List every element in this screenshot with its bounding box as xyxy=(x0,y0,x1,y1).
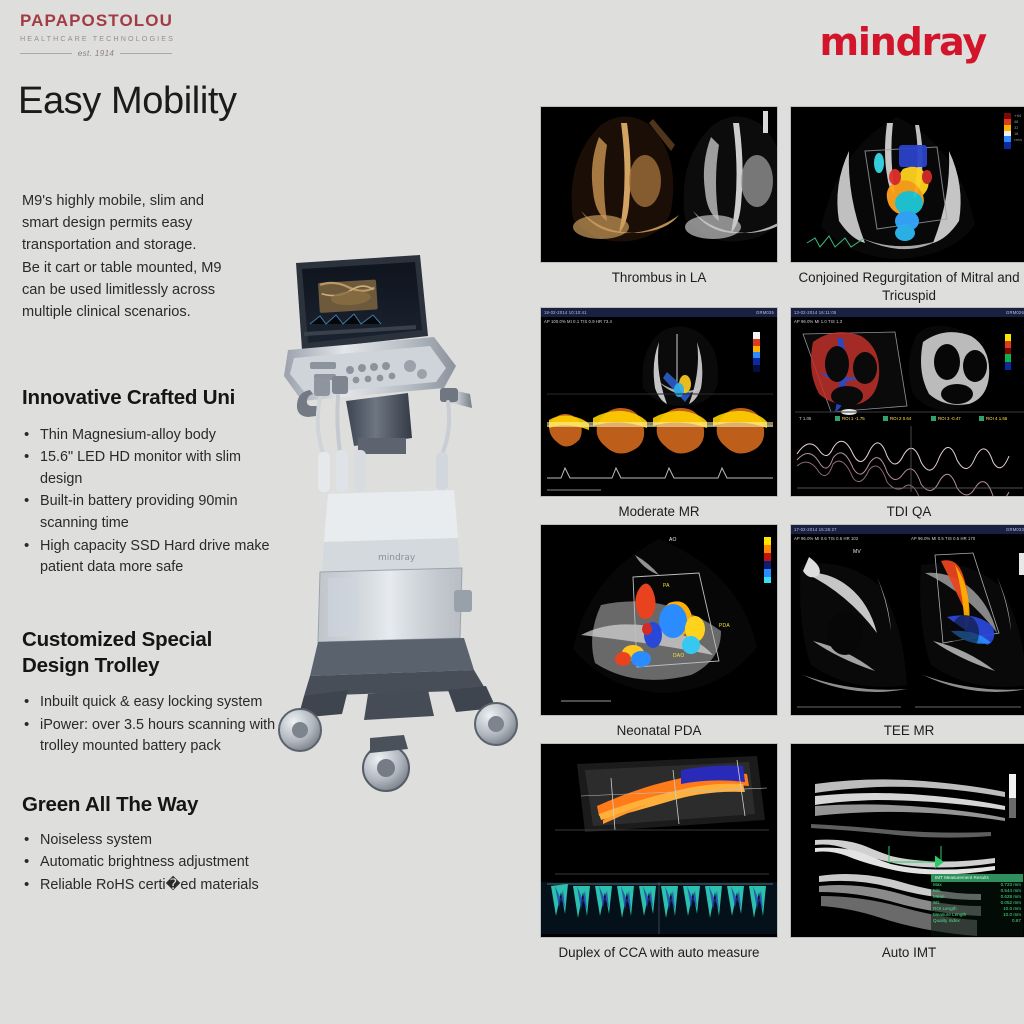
intro-line: can be used limitlessly across xyxy=(22,279,280,301)
list-item: 15.6" LED HD monitor with slim design xyxy=(22,447,280,490)
slide-page: PAPAPOSTOLOU HEALTHCARE TECHNOLOGIES est… xyxy=(0,0,1024,1024)
brand-established: est. 1914 xyxy=(78,49,115,58)
ultrasound-image-auto-imt[interactable]: 06-14-2014 08:22:34 Admin 20140614-08241… xyxy=(790,743,1024,938)
left-content-column: M9's highly mobile, slim and smart desig… xyxy=(22,190,280,897)
ultrasound-image-tdi-qa[interactable]: 13-02-2014 16:11:05 GRM026 AP 96.0% MI 1… xyxy=(790,307,1024,497)
duplex-pw-render xyxy=(541,744,778,938)
intro-line: Be it cart or table mounted, M9 xyxy=(22,257,280,279)
section-heading-trolley: Customized Special Design Trolley xyxy=(22,627,280,678)
table-row: Quality Index0.67 xyxy=(933,918,1021,924)
section-heading-innovative: Innovative Crafted Uni xyxy=(22,385,280,411)
ultrasound-image-neonatal-pda[interactable]: AP 100.0% MI 0.7 TIS 1.2 xyxy=(540,524,778,716)
caption-tee-mr: TEE MR xyxy=(790,716,1024,741)
gallery-cell-auto-imt[interactable]: 06-14-2014 08:22:34 Admin 20140614-08241… xyxy=(790,743,1024,963)
brand-name: PAPAPOSTOLOU xyxy=(20,12,172,30)
table-title: IMT Measurement Results xyxy=(933,875,1021,881)
color-doppler-render: +6448 3216 cm/s xyxy=(791,107,1024,263)
gallery-cell-conjoined[interactable]: +6448 3216 cm/s Conjoined Regurgitation … xyxy=(790,106,1024,305)
tdi-render xyxy=(791,308,1024,497)
brand-established-row: est. 1914 xyxy=(20,49,172,58)
caption-tdi-qa: TDI QA xyxy=(790,497,1024,522)
cart-chassis: mindray xyxy=(322,490,460,572)
page-title: Easy Mobility xyxy=(18,80,237,123)
gallery-row-1: Thrombus in LA xyxy=(540,106,1024,305)
tee-dual-render xyxy=(791,525,1024,716)
ultrasound-image-thrombus-in-la[interactable] xyxy=(540,106,778,263)
ultrasound-image-tee-mr[interactable]: 17-02-2014 15:26:27 GRM033 AP 96.0% MI 0… xyxy=(790,524,1024,716)
divider-left xyxy=(20,53,72,54)
list-item: Reliable RoHS certi�ed materials xyxy=(22,875,280,897)
gallery-row-4: AP 96.6% MI 0.4 TIS 0.2 xyxy=(540,743,1024,963)
anatomy-label-pda: PDA xyxy=(719,623,730,629)
section-heading-green: Green All The Way xyxy=(22,792,280,818)
gallery-row-2: 18-02-2014 10:10:41 GRM035 AP 100.0% MI … xyxy=(540,307,1024,522)
gallery-row-3: AP 100.0% MI 0.7 TIS 1.2 xyxy=(540,524,1024,741)
papapostolou-logo: PAPAPOSTOLOU HEALTHCARE TECHNOLOGIES est… xyxy=(20,12,172,58)
caption-neonatal-pda: Neonatal PDA xyxy=(540,716,778,741)
anatomy-label-dao: DAO xyxy=(673,653,684,659)
gallery-cell-tdi-qa[interactable]: 13-02-2014 16:11:05 GRM026 AP 96.0% MI 1… xyxy=(790,307,1024,522)
feature-list-green: Noiseless system Automatic brightness ad… xyxy=(22,830,280,897)
ultrasound-image-moderate-mr[interactable]: 18-02-2014 10:10:41 GRM035 AP 100.0% MI … xyxy=(540,307,778,497)
cart-base xyxy=(298,638,496,720)
imt-measurement-table: IMT Measurement Results Max0.723 mm Min0… xyxy=(933,875,1021,925)
anatomy-label-ao: AO xyxy=(669,537,677,543)
echo-dual-render xyxy=(541,107,778,263)
tdi-time-label: T 1.05 xyxy=(799,416,811,421)
caption-thrombus: Thrombus in LA xyxy=(540,263,778,288)
svg-text:mindray: mindray xyxy=(378,553,416,563)
list-item: Thin Magnesium-alloy body xyxy=(22,425,280,447)
spectral-doppler-render xyxy=(541,308,778,497)
intro-line: smart design permits easy xyxy=(22,212,280,234)
ultrasound-image-duplex-cca[interactable]: AP 96.6% MI 0.4 TIS 0.2 xyxy=(540,743,778,938)
list-item: Built-in battery providing 90min scannin… xyxy=(22,491,280,534)
svg-text:cm/s: cm/s xyxy=(1014,138,1022,142)
monitor xyxy=(296,255,428,350)
intro-paragraph: M9's highly mobile, slim and smart desig… xyxy=(22,190,280,323)
anatomy-label-pa: PA xyxy=(663,583,670,589)
list-item: iPower: over 3.5 hours scanning with tro… xyxy=(22,715,280,758)
ultrasound-image-gallery: Thrombus in LA xyxy=(540,106,1024,968)
gallery-cell-thrombus[interactable]: Thrombus in LA xyxy=(540,106,778,305)
svg-text:16: 16 xyxy=(1014,132,1018,136)
color-bar-icon xyxy=(764,537,771,583)
brand-subtitle: HEALTHCARE TECHNOLOGIES xyxy=(20,34,172,43)
product-image-m9-trolley: mindray xyxy=(258,238,558,818)
caption-auto-imt: Auto IMT xyxy=(790,938,1024,963)
gallery-cell-neonatal-pda[interactable]: AP 100.0% MI 0.7 TIS 1.2 xyxy=(540,524,778,741)
list-item: Noiseless system xyxy=(22,830,280,852)
roi-chip-2: ROI 2 0.64 xyxy=(883,416,911,421)
svg-text:32: 32 xyxy=(1014,126,1018,130)
list-item: High capacity SSD Hard drive make patien… xyxy=(22,536,280,579)
support-column xyxy=(346,393,412,454)
gallery-cell-moderate-mr[interactable]: 18-02-2014 10:10:41 GRM035 AP 100.0% MI … xyxy=(540,307,778,522)
roi-chip-1: ROI 1 -1.75 xyxy=(835,416,865,421)
svg-text:+64: +64 xyxy=(1014,114,1021,118)
roi-chip-3: ROI 3 -0.47 xyxy=(931,416,961,421)
product-illustration: mindray xyxy=(258,238,558,818)
divider-right xyxy=(120,53,172,54)
mindray-logo: mindray xyxy=(820,20,986,64)
storage-bin xyxy=(318,568,472,642)
intro-line: transportation and storage. xyxy=(22,234,280,256)
gallery-cell-tee-mr[interactable]: 17-02-2014 15:26:27 GRM033 AP 96.0% MI 0… xyxy=(790,524,1024,741)
intro-line: M9's highly mobile, slim and xyxy=(22,190,280,212)
neonatal-pda-render xyxy=(541,525,778,716)
svg-text:48: 48 xyxy=(1014,120,1018,124)
ultrasound-image-conjoined-regurgitation[interactable]: +6448 3216 cm/s xyxy=(790,106,1024,263)
list-item: Automatic brightness adjustment xyxy=(22,852,280,874)
feature-list-trolley: Inbuilt quick & easy locking system iPow… xyxy=(22,692,280,758)
feature-list-innovative: Thin Magnesium-alloy body 15.6" LED HD m… xyxy=(22,425,280,579)
probe-label-mv: MV xyxy=(853,549,861,555)
list-item: Inbuilt quick & easy locking system xyxy=(22,692,280,714)
gallery-cell-duplex-cca[interactable]: AP 96.6% MI 0.4 TIS 0.2 xyxy=(540,743,778,963)
intro-line: multiple clinical scenarios. xyxy=(22,301,280,323)
roi-chip-4: ROI 4 1.66 xyxy=(979,416,1007,421)
caption-conjoined: Conjoined Regurgitation of Mitral and Tr… xyxy=(790,263,1024,305)
caption-duplex-cca: Duplex of CCA with auto measure xyxy=(540,938,778,963)
caption-moderate-mr: Moderate MR xyxy=(540,497,778,522)
